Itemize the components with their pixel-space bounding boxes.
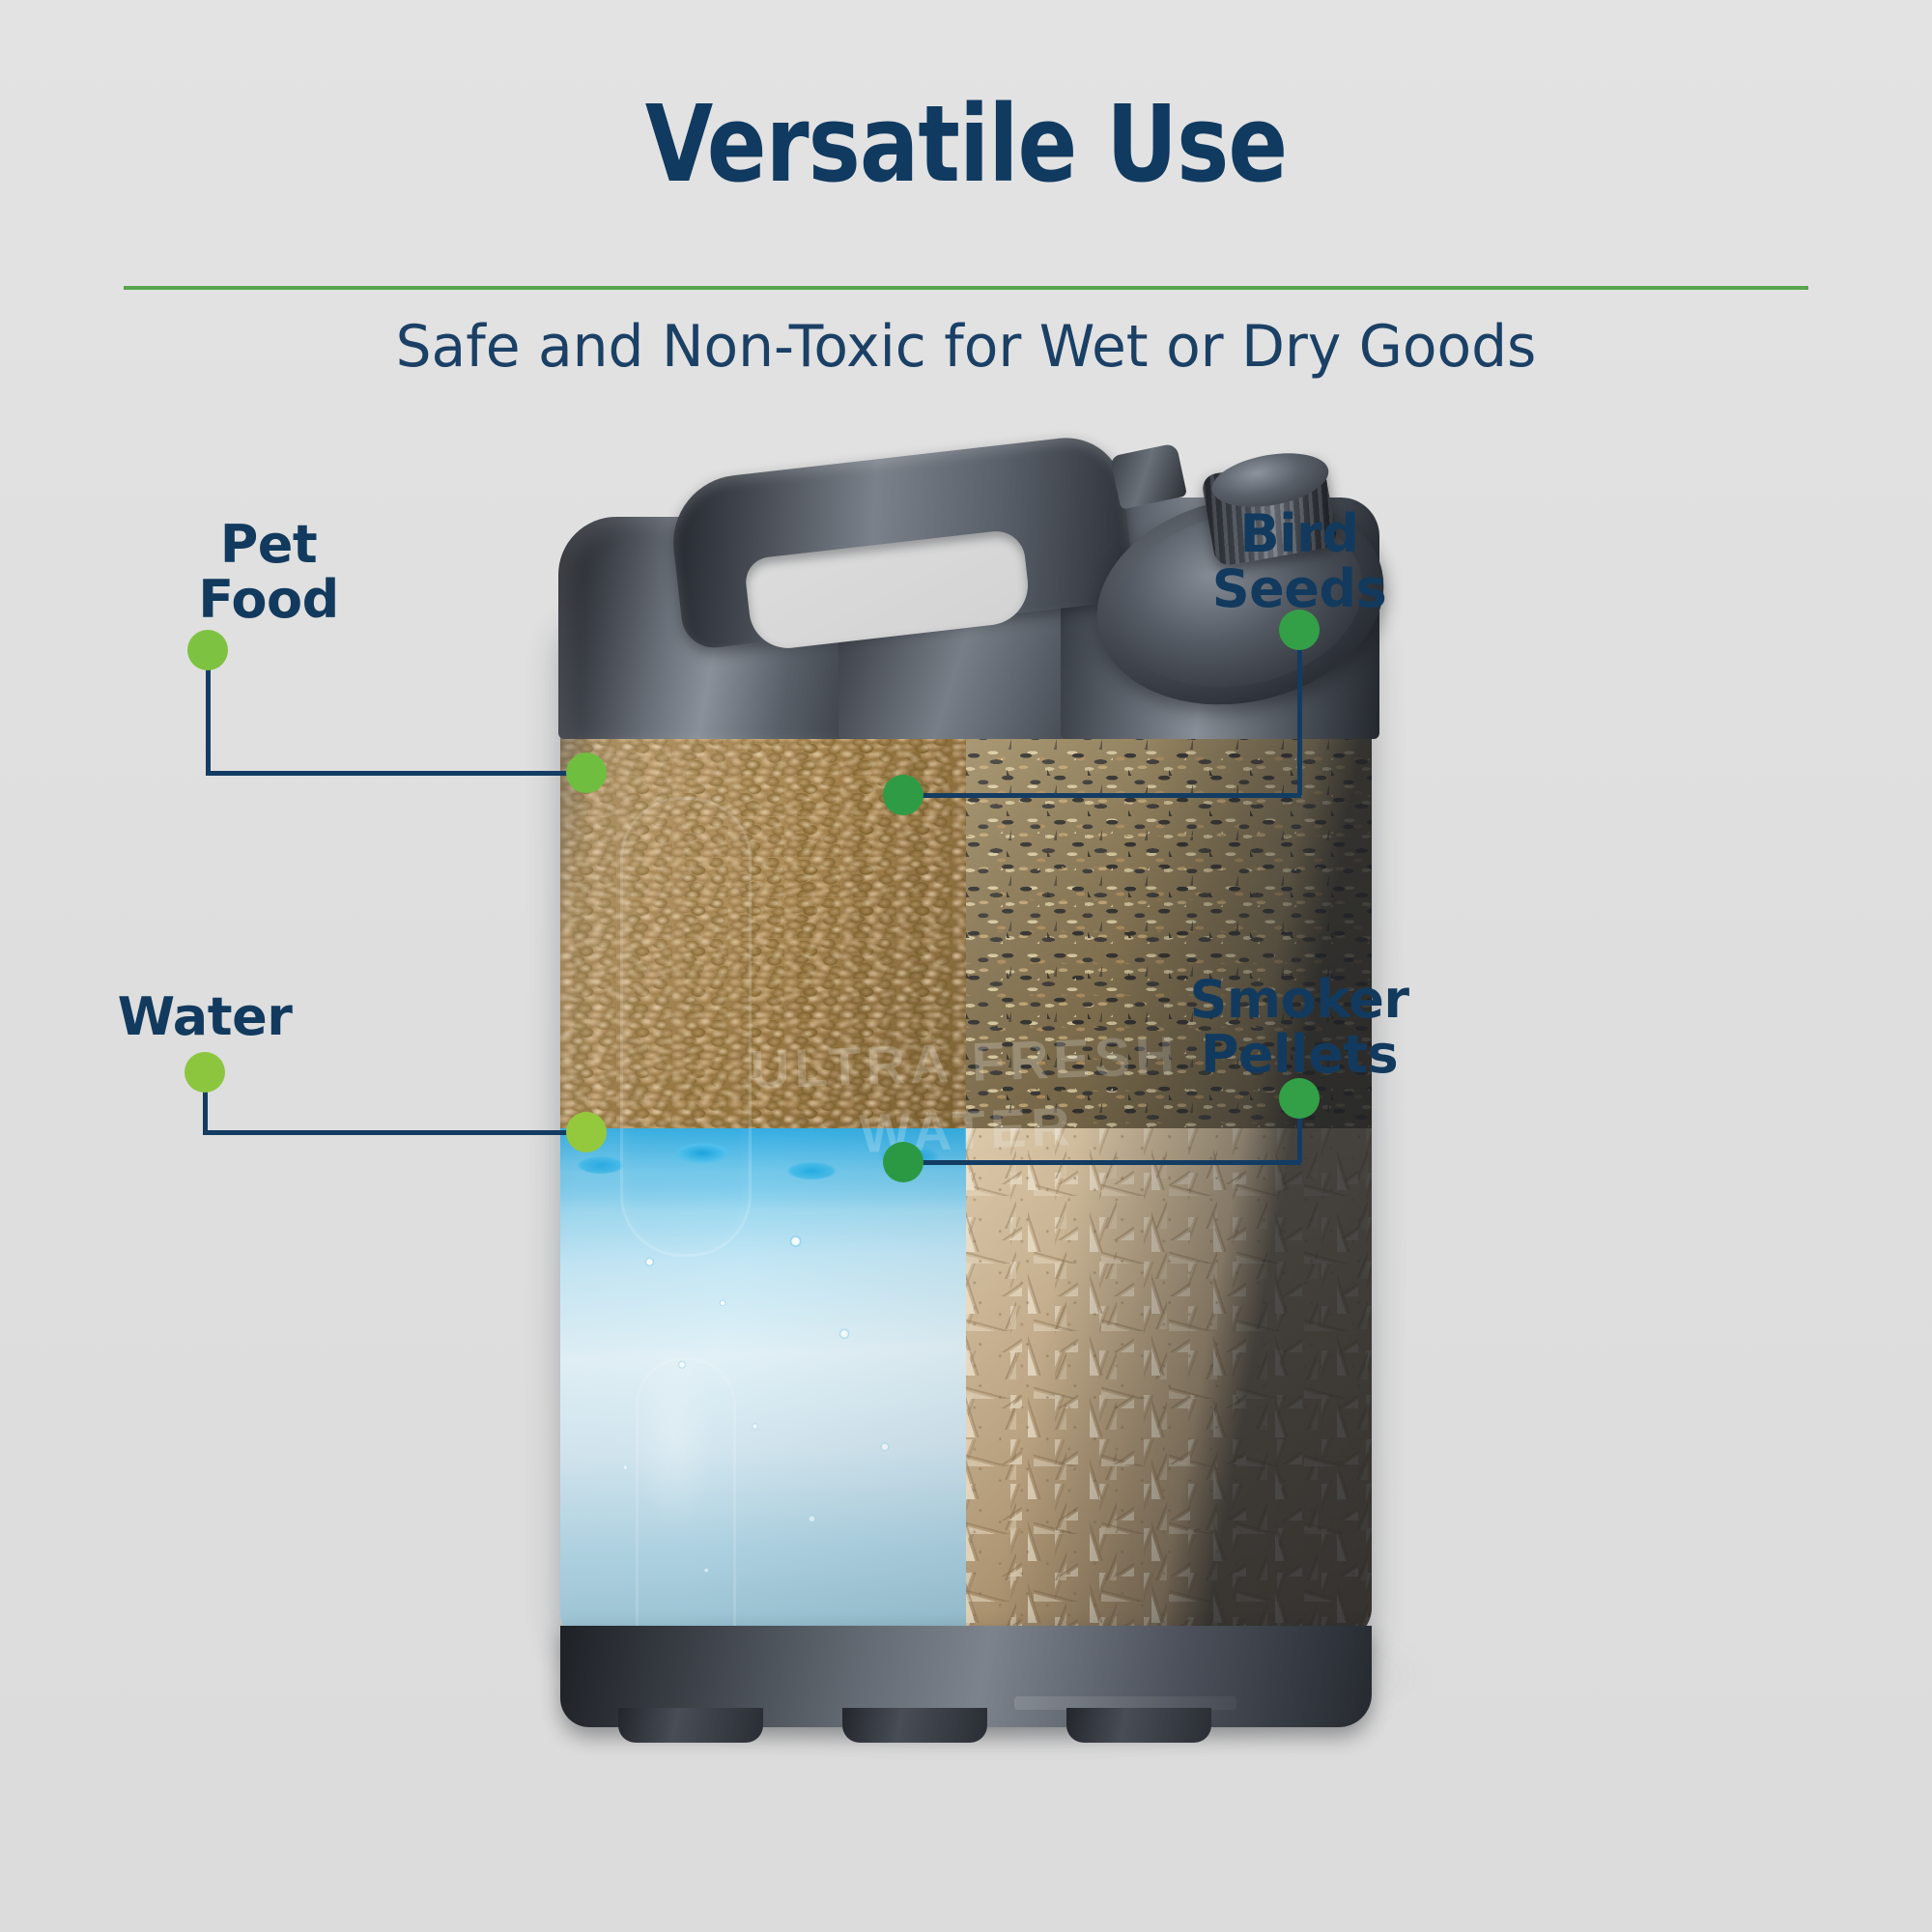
callout-label-pet-food: Pet Food — [75, 517, 462, 627]
callout-dot-origin-smoker-pellets[interactable] — [1279, 1078, 1320, 1119]
callout-label-smoker-pellets: Smoker Pellets — [1106, 972, 1492, 1082]
callout-line-horizontal-water — [203, 1130, 588, 1135]
contents-smoker-pellets — [966, 1128, 1372, 1643]
callout-dot-target-smoker-pellets[interactable] — [883, 1142, 923, 1182]
jug-emboss-panel-upper — [620, 797, 752, 1257]
callout-dot-target-bird-seeds[interactable] — [883, 775, 923, 815]
header-divider — [124, 286, 1808, 290]
jug-base — [560, 1626, 1372, 1727]
infographic-canvas: Versatile Use Safe and Non-Toxic for Wet… — [0, 0, 1932, 1932]
jug-foot-center — [842, 1708, 987, 1743]
callout-dot-target-water[interactable] — [566, 1112, 607, 1152]
callout-label-water: Water — [12, 989, 398, 1044]
jug-foot-right — [1066, 1708, 1211, 1743]
callout-dot-target-pet-food[interactable] — [566, 753, 607, 793]
callout-line-horizontal-pet-food — [206, 771, 588, 776]
callout-dot-origin-water[interactable] — [185, 1052, 225, 1093]
callout-label-bird-seeds: Bird Seeds — [1106, 506, 1492, 616]
callout-line-horizontal-bird-seeds — [901, 793, 1301, 798]
jug-emboss-panel-lower — [636, 1357, 736, 1642]
jug-foot-left — [618, 1708, 763, 1743]
page-subtitle: Safe and Non-Toxic for Wet or Dry Goods — [29, 315, 1903, 379]
page-title: Versatile Use — [77, 91, 1855, 197]
callout-line-horizontal-smoker-pellets — [901, 1160, 1301, 1165]
callout-line-vertical-bird-seeds — [1297, 630, 1302, 795]
callout-dot-origin-pet-food[interactable] — [187, 630, 228, 670]
jug-contents-window: ULTRA FRESH WATER — [560, 613, 1372, 1642]
callout-dot-origin-bird-seeds[interactable] — [1279, 610, 1320, 650]
